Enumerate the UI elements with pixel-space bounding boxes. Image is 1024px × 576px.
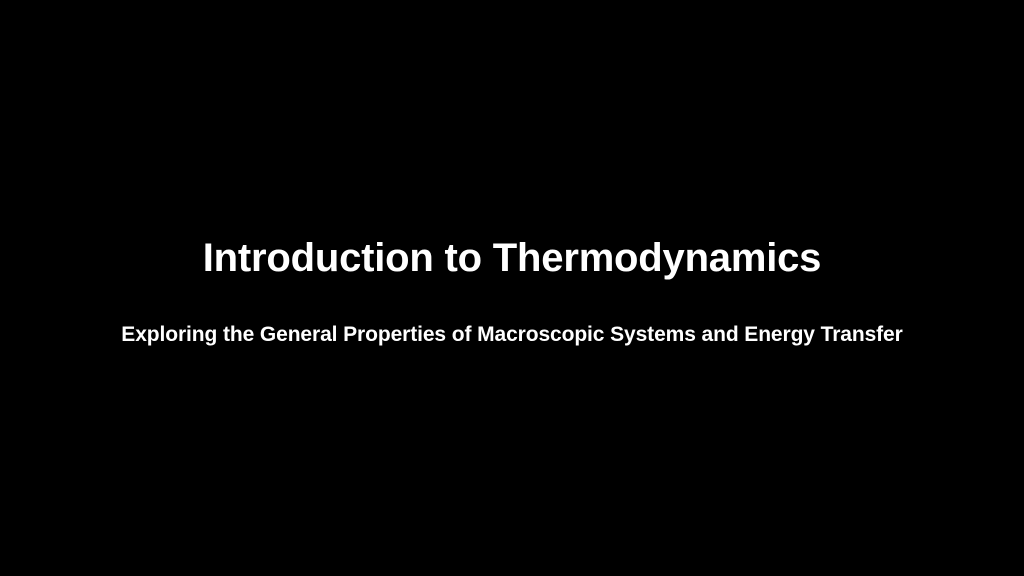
- slide-subtitle: Exploring the General Properties of Macr…: [22, 322, 1002, 348]
- slide-content-area: Introduction to Thermodynamics Exploring…: [0, 0, 1024, 576]
- title-block: Introduction to Thermodynamics: [22, 236, 1002, 280]
- subtitle-block: Exploring the General Properties of Macr…: [22, 322, 1002, 348]
- presentation-title-slide: Introduction to Thermodynamics Exploring…: [0, 0, 1024, 576]
- slide-title: Introduction to Thermodynamics: [22, 236, 1002, 280]
